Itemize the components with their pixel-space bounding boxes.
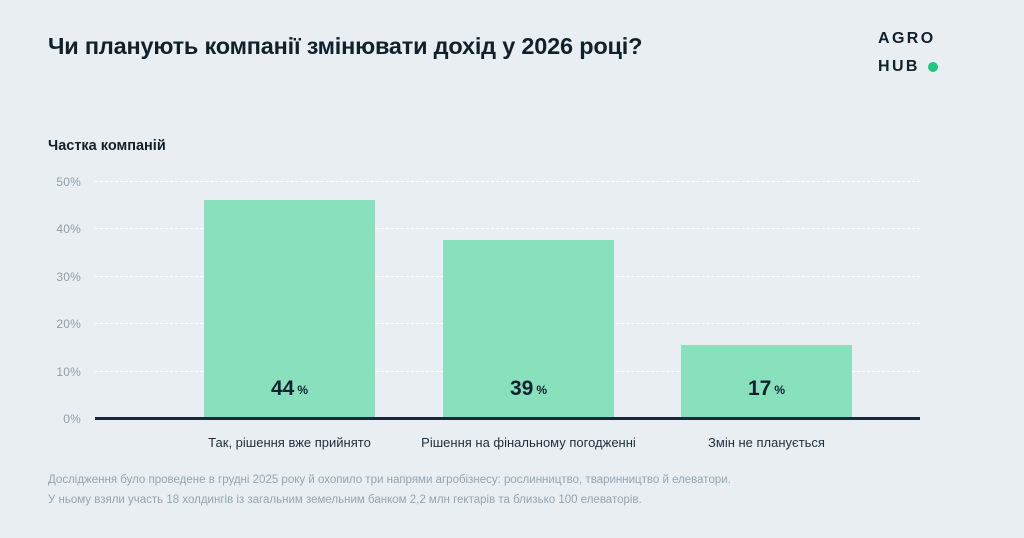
y-axis-tick-label: 0% <box>63 412 81 426</box>
page-header: Чи планують компанії змінювати дохід у 2… <box>0 0 1024 100</box>
x-axis-category-label: Змін не планується <box>621 435 912 450</box>
footnote-line-1: Дослідження було проведене в грудні 2025… <box>48 470 978 490</box>
bar-series: 44%Так, рішення вже прийнято39%Рішення н… <box>95 181 920 418</box>
x-axis-line <box>95 417 920 420</box>
chart-container: Частка компаній 0%10%20%30%40%50% 44%Так… <box>0 100 1024 460</box>
footnote-line-2: У ньому взяли участь 18 холдингів із заг… <box>48 490 978 510</box>
y-axis-tick-label: 20% <box>56 317 81 331</box>
bar-value-label: 44% <box>204 378 375 399</box>
logo-text-hub: HUB <box>878 59 920 75</box>
bar-value-unit: % <box>297 383 308 397</box>
logo-line-1: AGRO <box>878 28 986 49</box>
y-axis-tick-label: 40% <box>56 222 81 236</box>
footnote: Дослідження було проведене в грудні 2025… <box>48 470 978 510</box>
bar-value-label: 39% <box>443 378 614 399</box>
chart-subtitle: Частка компаній <box>48 138 166 154</box>
bar[interactable]: 39%Рішення на фінальному погодженні <box>443 240 614 418</box>
logo-text-agro: AGRO <box>878 31 936 47</box>
bar-value-number: 39 <box>510 377 533 400</box>
bar-value-number: 17 <box>748 377 771 400</box>
bar-value-number: 44 <box>271 377 294 400</box>
agrohub-logo: AGRO HUB <box>878 28 986 77</box>
y-axis-tick-label: 50% <box>56 175 81 189</box>
logo-line-2: HUB <box>878 56 986 77</box>
y-axis-tick-label: 10% <box>56 365 81 379</box>
chart-page: Чи планують компанії змінювати дохід у 2… <box>0 0 1024 538</box>
bar[interactable]: 17%Змін не планується <box>681 345 852 418</box>
bar-value-unit: % <box>774 383 785 397</box>
bar-value-unit: % <box>536 383 547 397</box>
bar[interactable]: 44%Так, рішення вже прийнято <box>204 200 375 418</box>
bar-value-label: 17% <box>681 378 852 399</box>
page-title: Чи планують компанії змінювати дохід у 2… <box>48 33 642 60</box>
plot-area: 0%10%20%30%40%50% 44%Так, рішення вже пр… <box>95 181 920 418</box>
y-axis-tick-label: 30% <box>56 270 81 284</box>
logo-dot-icon <box>928 62 938 72</box>
